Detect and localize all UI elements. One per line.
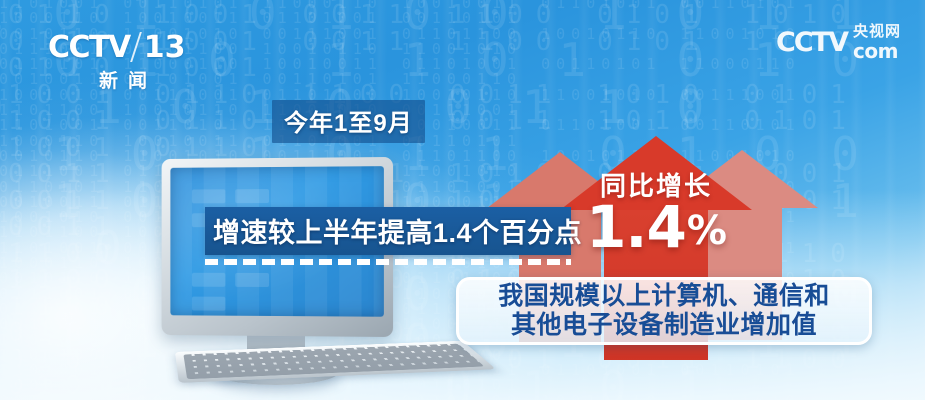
cctv-com-domain: com: [853, 41, 898, 61]
cctv-com-logo: CCTV 央视网 com: [776, 24, 901, 61]
screen-tile: [192, 273, 225, 287]
screen-tile: [235, 189, 269, 203]
cctv-wordmark: CCTV: [48, 30, 130, 65]
cctv13-logo-row: CCTV 13: [48, 30, 198, 64]
broadcast-graphic-stage: 1 0 1 0 1 0 0 1 0 1 1 0 0 1 0 1 1 0 1 0 …: [0, 0, 925, 400]
channel-number: 13: [144, 30, 186, 65]
caption-line-1: 我国规模以上计算机、通信和: [498, 282, 830, 311]
growth-value-unit: %: [687, 208, 726, 254]
channel-subtitle: 新闻: [48, 66, 198, 93]
headline-dashed-underline: [205, 259, 571, 265]
cctv13-channel-logo: CCTV 13 新闻: [48, 30, 198, 92]
cctv-com-wordmark: CCTV: [776, 27, 847, 58]
cctv-com-chinese-name: 央视网: [853, 24, 901, 39]
cctv-com-right-block: 央视网 com: [853, 24, 901, 61]
headline-text: 增速较上半年提高1.4个百分点: [205, 207, 571, 255]
screen-tile: [192, 189, 225, 203]
caption-box: 我国规模以上计算机、通信和 其他电子设备制造业增加值: [456, 277, 872, 345]
growth-value-number: 1.4: [586, 193, 686, 261]
date-range-chip: 今年1至9月: [272, 100, 425, 143]
headline-block: 增速较上半年提高1.4个百分点: [205, 207, 571, 265]
caption-line-2: 其他电子设备制造业增加值: [511, 311, 817, 340]
logo-slash-divider: [130, 32, 142, 62]
screen-tile: [192, 297, 225, 311]
screen-tile: [235, 273, 269, 287]
